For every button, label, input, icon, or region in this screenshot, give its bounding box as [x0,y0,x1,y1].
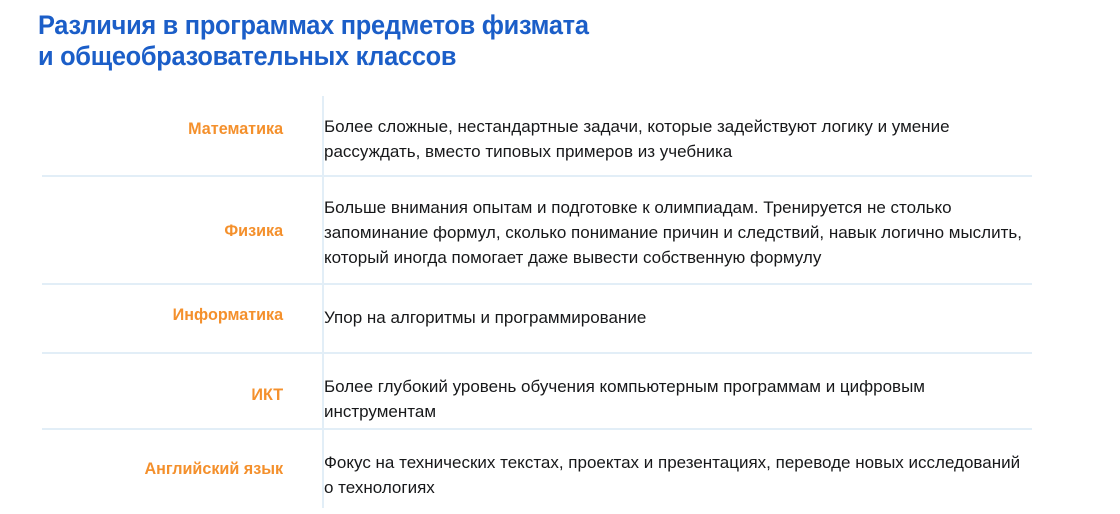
table-row: Информатика Упор на алгоритмы и программ… [42,283,1032,352]
table-row: Математика Более сложные, нестандартные … [42,96,1032,175]
subject-label: ИКТ [55,354,304,406]
table-row: Физика Больше внимания опытам и подготов… [42,175,1032,283]
subject-description: Более сложные, нестандартные задачи, кот… [304,96,1032,164]
subject-description: Упор на алгоритмы и программирование [304,285,1032,330]
subject-label: Информатика [55,285,304,326]
subject-description: Фокус на технических текстах, проектах и… [304,430,1032,500]
subject-label: Английский язык [55,430,304,480]
subject-description: Более глубокий уровень обучения компьюте… [304,354,1032,424]
subject-label: Математика [55,96,304,140]
infographic-page: Различия в программах предметов физмата … [0,0,1120,514]
subject-description: Больше внимания опытам и подготовке к ол… [304,177,1032,270]
page-title-line-1: Различия в программах предметов физмата [38,10,884,41]
comparison-table: Математика Более сложные, нестандартные … [42,96,1032,508]
page-title-line-2: и общеобразовательных классов [38,41,884,72]
table-row: Английский язык Фокус на технических тек… [42,428,1032,508]
subject-label: Физика [55,177,304,242]
table-row: ИКТ Более глубокий уровень обучения комп… [42,352,1032,428]
page-title: Различия в программах предметов физмата … [38,10,938,72]
